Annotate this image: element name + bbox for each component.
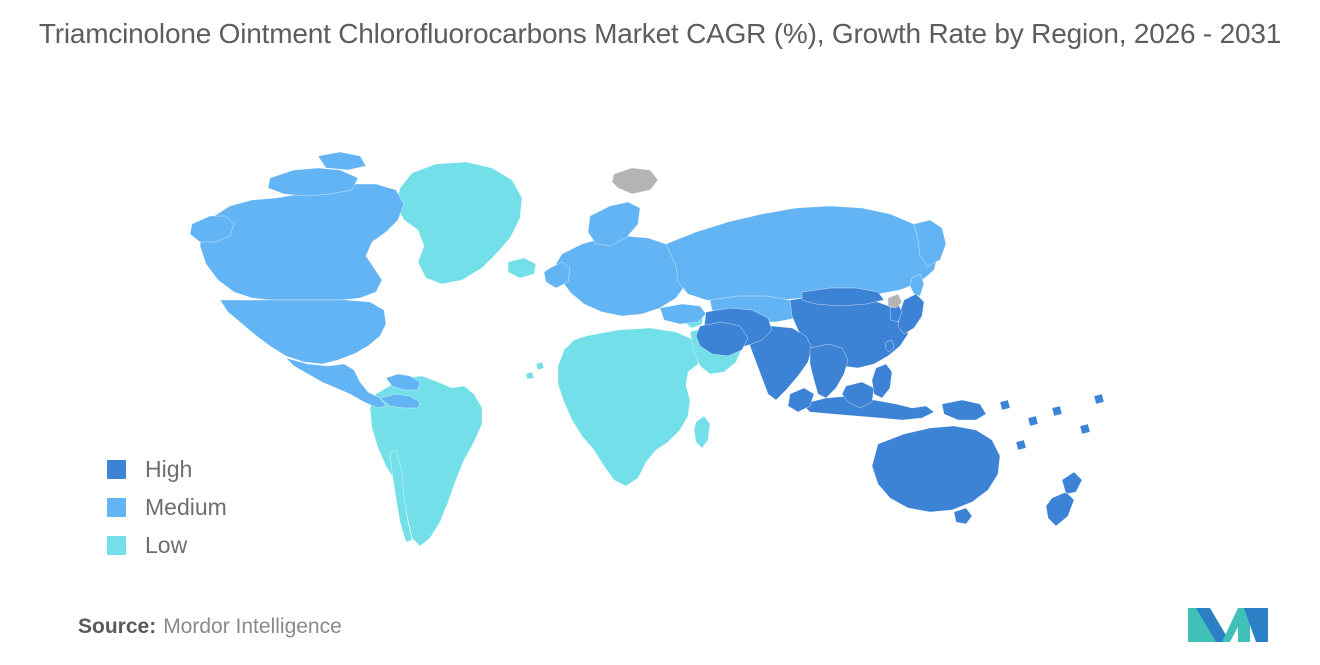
legend-swatch-medium <box>107 498 126 517</box>
legend-item-low[interactable]: Low <box>107 526 337 564</box>
country-greenland <box>396 162 522 284</box>
logo-i-right-blue <box>1256 608 1268 642</box>
legend-label-high: High <box>145 458 192 481</box>
legend-swatch-low <box>107 536 126 555</box>
region-canadian-arctic <box>268 152 366 196</box>
continent-africa <box>558 328 702 486</box>
country-turkey <box>660 304 706 324</box>
map-legend: High Medium Low <box>107 450 337 564</box>
country-canada <box>200 184 404 300</box>
source-label: Source: <box>78 615 156 638</box>
legend-swatch-high <box>107 460 126 479</box>
country-japan <box>898 294 924 334</box>
logo-svg <box>1186 598 1276 646</box>
island-tasmania <box>954 508 972 524</box>
legend-item-high[interactable]: High <box>107 450 337 488</box>
islands-pacific-melanesia <box>1000 394 1104 450</box>
map-regions-high <box>696 288 1104 526</box>
legend-item-medium[interactable]: Medium <box>107 488 337 526</box>
source-line: Source:Mordor Intelligence <box>78 613 342 641</box>
country-australia <box>872 426 1000 512</box>
page-title: Triamcinolone Ointment Chlorofluorocarbo… <box>0 14 1320 54</box>
mordor-intelligence-logo-icon <box>1186 598 1276 646</box>
source-value: Mordor Intelligence <box>163 615 342 638</box>
country-usa <box>220 300 386 364</box>
world-choropleth-map <box>190 150 1200 580</box>
country-philippines <box>872 364 892 398</box>
islands-atlantic-west-africa <box>526 362 544 379</box>
country-madagascar <box>694 416 710 448</box>
region-indochina <box>810 344 848 398</box>
world-map-svg <box>190 150 1200 580</box>
country-new-zealand <box>1046 472 1082 526</box>
legend-label-low: Low <box>145 534 187 557</box>
country-north-korea <box>888 294 902 308</box>
legend-label-medium: Medium <box>145 496 227 519</box>
region-svalbard <box>612 168 658 194</box>
country-mexico <box>286 358 386 408</box>
country-papua-new-guinea <box>942 400 986 420</box>
map-regions-low <box>370 162 742 546</box>
country-iceland <box>508 258 536 278</box>
country-russia <box>666 206 938 302</box>
